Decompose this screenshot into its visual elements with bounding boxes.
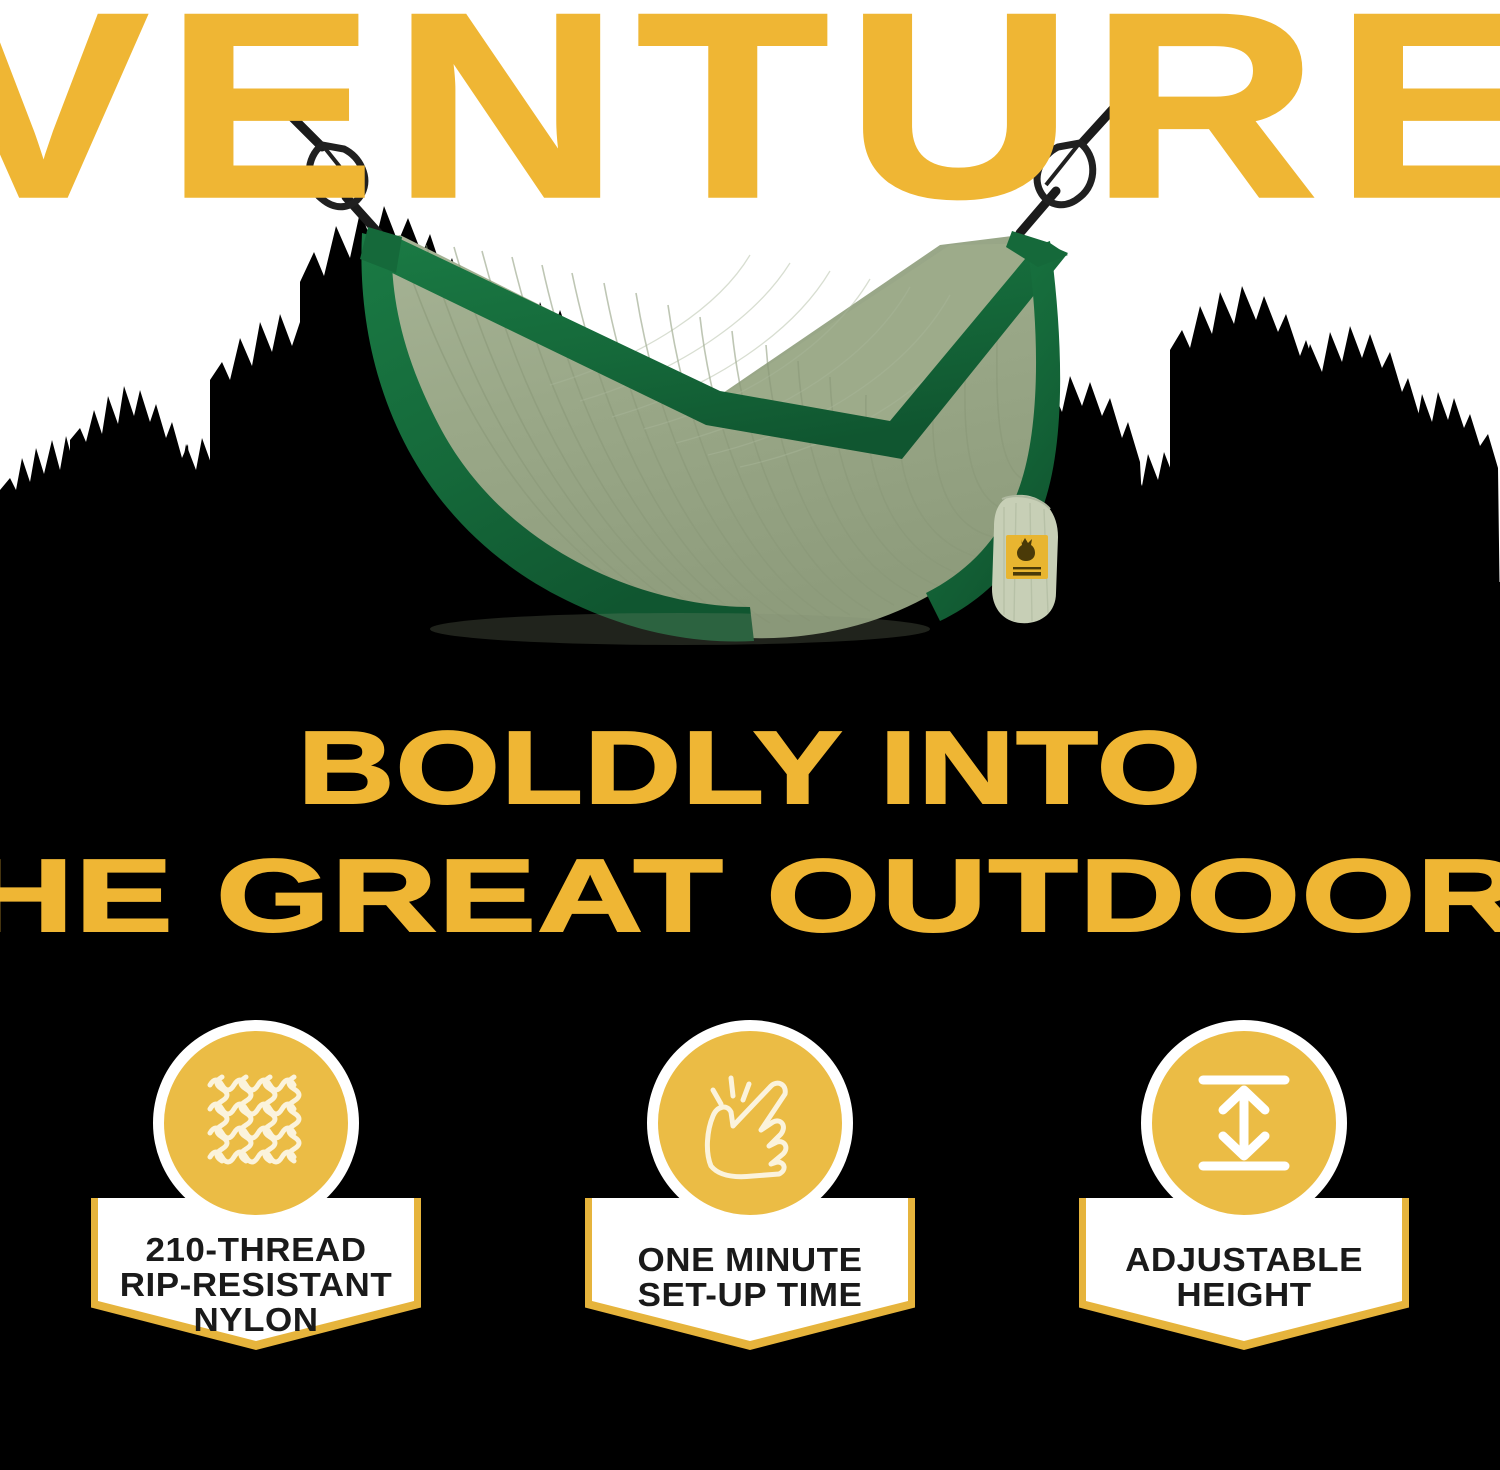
badge-label-line: NYLON [81, 1302, 431, 1337]
poster-tagline: BOLDLY INTO THE GREAT OUTDOORS [0, 712, 1500, 954]
badge-label: ONE MINUTE SET-UP TIME [575, 1242, 925, 1312]
badge-label-line: ONE MINUTE [575, 1242, 925, 1277]
badge-label-line: ADJUSTABLE [1069, 1242, 1419, 1277]
carabiner-left [309, 145, 365, 207]
tagline-line-2: THE GREAT OUTDOORS [0, 838, 1500, 954]
badge-label: ADJUSTABLE HEIGHT [1069, 1242, 1419, 1312]
badge-label-line: RIP-RESISTANT [81, 1267, 431, 1302]
badge-icon-circle [153, 1020, 359, 1226]
hammock-stuff-sack [992, 495, 1058, 623]
feature-badge-setup-time: ONE MINUTE SET-UP TIME [585, 1020, 915, 1410]
feature-badge-row: 210-THREAD RIP-RESISTANT NYLON [0, 1020, 1500, 1410]
carabiner-right [1037, 143, 1093, 205]
badge-label-line: SET-UP TIME [575, 1277, 925, 1312]
badge-icon-circle [1141, 1020, 1347, 1226]
feature-badge-nylon: 210-THREAD RIP-RESISTANT NYLON [91, 1020, 421, 1410]
badge-label: 210-THREAD RIP-RESISTANT NYLON [81, 1232, 431, 1337]
snapping-fingers-icon [691, 1064, 809, 1182]
woven-fabric-icon [196, 1063, 316, 1183]
badge-label-line: 210-THREAD [81, 1232, 431, 1267]
adjustable-height-icon [1185, 1064, 1303, 1182]
badge-label-line: HEIGHT [1069, 1277, 1419, 1312]
suspension-strap-right [1020, 99, 1122, 233]
feature-badge-adjustable-height: ADJUSTABLE HEIGHT [1079, 1020, 1409, 1410]
hammock-product-image [250, 95, 1150, 685]
tagline-line-1: BOLDLY INTO [0, 712, 1500, 824]
product-marketing-poster: VENTURE [0, 0, 1500, 1470]
badge-icon-circle [647, 1020, 853, 1226]
